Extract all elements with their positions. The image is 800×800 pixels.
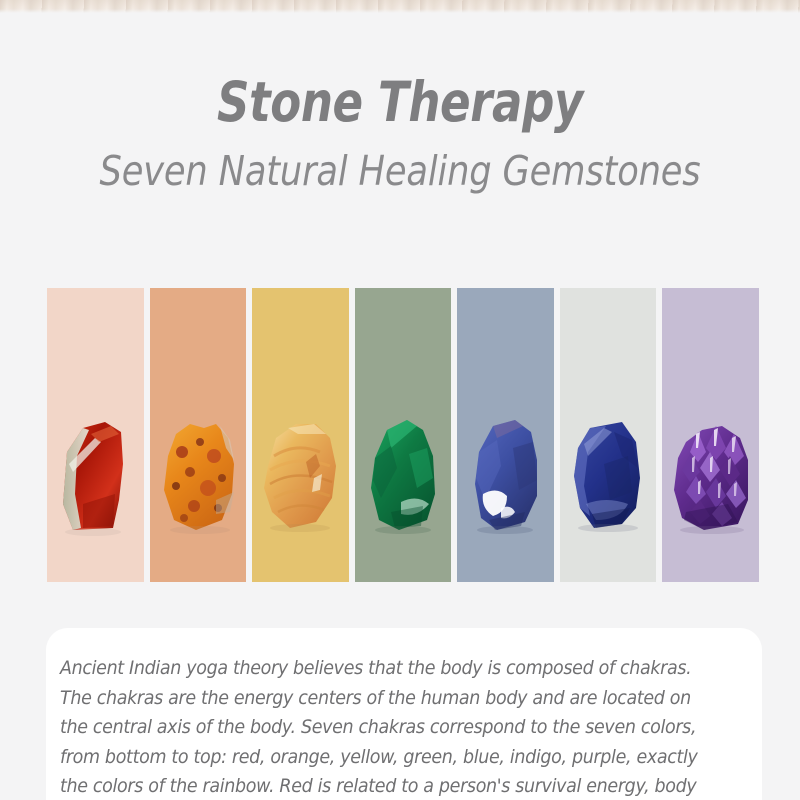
gem-strip-orange[interactable] <box>150 288 247 582</box>
gem-strip-green[interactable] <box>355 288 452 582</box>
panel-swatch-yellow <box>252 288 349 582</box>
gem-strip-yellow[interactable] <box>252 288 349 582</box>
panel-swatch-green <box>355 288 452 582</box>
stone-therapy-poster: Stone Therapy Seven Natural Healing Gems… <box>0 0 800 800</box>
panel-swatch-indigo <box>560 288 657 582</box>
info-card: Ancient Indian yoga theory believes that… <box>46 628 762 800</box>
gem-strip-row <box>47 288 759 582</box>
panel-swatch-blue <box>457 288 554 582</box>
gem-strip-blue[interactable] <box>457 288 554 582</box>
panel-swatch-red <box>47 288 144 582</box>
panel-swatch-purple <box>662 288 759 582</box>
page-title: Stone Therapy <box>72 74 728 130</box>
panel-swatch-orange <box>150 288 247 582</box>
gem-strip-red[interactable] <box>47 288 144 582</box>
stone-texture-band <box>0 0 800 13</box>
gem-strip-purple[interactable] <box>662 288 759 582</box>
gem-strip-indigo[interactable] <box>560 288 657 582</box>
title-block: Stone Therapy Seven Natural Healing Gems… <box>0 74 800 193</box>
page-subtitle: Seven Natural Healing Gemstones <box>56 150 744 193</box>
chakra-description-text: Ancient Indian yoga theory believes that… <box>60 654 716 800</box>
